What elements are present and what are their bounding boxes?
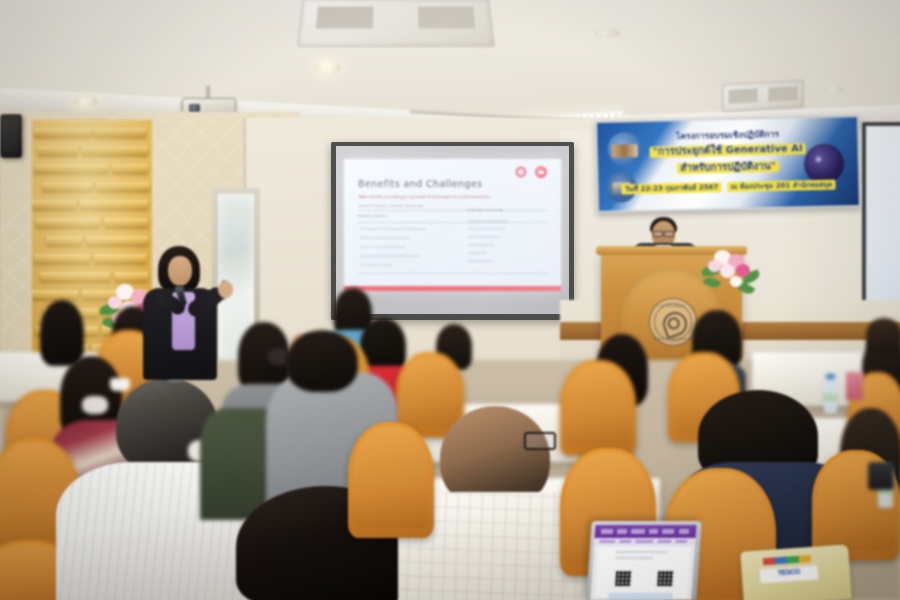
slide-right-item: Available policies	[468, 259, 493, 263]
water-bottle	[824, 378, 837, 414]
ac-cassette-unit	[722, 80, 804, 112]
seal-top-text: มหาวิทยาลัยบูรพา	[650, 304, 696, 309]
slide-right-item: Human effort	[468, 251, 487, 255]
audience-person	[866, 318, 900, 354]
eyeglasses-icon	[524, 432, 556, 450]
wall-speaker	[0, 114, 22, 158]
attendee-laptop[interactable]	[586, 521, 702, 600]
slide-right-item: Career prospects	[468, 243, 493, 247]
slide-rule	[358, 210, 547, 211]
slide-left-item: Administrative support	[360, 263, 393, 267]
slide-right-item: Privacy and ethical issues	[468, 227, 506, 231]
bag-color-bars	[763, 555, 811, 565]
slide-subtitle: Student Perception of Genek Technologies	[358, 204, 424, 208]
presentation-slide: Benefits and Challenges Table 1 Benefits…	[344, 159, 561, 291]
face-mask-icon	[82, 396, 108, 414]
smoke-detector	[594, 28, 620, 38]
presenter-raised-hand	[218, 281, 233, 298]
slide-rule	[358, 222, 547, 223]
banner-location: ณ ห้องประชุม 201 สำนักหอสมุด	[728, 180, 836, 192]
university-seal-icon: มหาวิทยาลัยบูรพา BURAPHA UNIVERSITY	[649, 298, 697, 346]
audience-person-head	[286, 330, 358, 392]
gear-logo-icon	[515, 166, 527, 178]
slide-left-column-header: Benefits related to	[358, 214, 387, 218]
conference-room-photo: Benefits and Challenges Table 1 Benefits…	[0, 0, 900, 600]
banquet-chair	[560, 360, 636, 456]
floral-arrangement	[700, 248, 758, 300]
black-cup	[868, 462, 894, 490]
downlight	[73, 95, 98, 109]
workshop-banner: โครงการอบรมเชิงปฏิบัติการ "การประยุกต์ใช…	[595, 115, 861, 213]
smoke-detector	[824, 86, 844, 94]
banner-line-2-text: "การประยุกต์ใช้ Generative AI	[650, 143, 806, 158]
app-document-body	[594, 547, 691, 598]
presenter-face	[168, 256, 192, 286]
coffee-cup	[110, 378, 130, 391]
app-ribbon-bar	[595, 525, 697, 538]
circular-red-logo-icon	[535, 166, 547, 178]
slide-caption-label: Table 1	[358, 195, 369, 199]
pink-tumbler	[846, 372, 863, 400]
slide-title: Benefits and Challenges	[358, 179, 482, 190]
ac-cassette-unit	[297, 0, 495, 47]
shopping-bag: TESCO	[740, 544, 852, 600]
slide-right-item: Student competencies	[468, 235, 501, 239]
app-tab-bar	[594, 538, 695, 545]
banquet-chair	[348, 422, 434, 538]
banner-line-3-text: สำหรับการปฏิบัติงาน"	[677, 161, 779, 174]
projection-surface: Benefits and Challenges Table 1 Benefits…	[336, 146, 569, 314]
projection-screen: Benefits and Challenges Table 1 Benefits…	[331, 142, 574, 320]
slide-accent-bar	[344, 286, 561, 291]
slide-left-item: Personalized and immediate learning supp…	[360, 227, 426, 231]
qr-code-icon	[657, 571, 673, 586]
bag-logo: TESCO	[759, 565, 818, 583]
eyeglasses-icon	[653, 231, 674, 235]
downlight	[314, 60, 341, 75]
slide-right-column-header: Challenges concerning	[466, 208, 503, 212]
slide-left-item: Research and analysis support	[360, 245, 405, 249]
slide-rule	[358, 273, 547, 274]
slide-table-caption: Table 1 Benefits and challenges of gener…	[358, 195, 491, 199]
slide-caption-text: Benefits and challenges of generative AI…	[370, 195, 490, 199]
slide-right-item: Accuracy and transparency	[468, 219, 508, 223]
slide-left-item: Educational audio-visual material suppor…	[360, 254, 420, 258]
selected-block	[608, 593, 673, 600]
bag-brand-label: TESCO	[760, 567, 818, 578]
slide-left-item: Writing and brainstorming support	[360, 236, 409, 240]
laptop-screen	[590, 525, 696, 600]
banner-date: วันที่ 22-23 กุมภาพันธ์ 2567	[622, 182, 722, 194]
seal-bottom-text: BURAPHA UNIVERSITY	[650, 337, 696, 341]
bottle-cap	[826, 374, 834, 379]
qr-code-icon	[615, 571, 631, 586]
audience-person	[40, 300, 84, 366]
